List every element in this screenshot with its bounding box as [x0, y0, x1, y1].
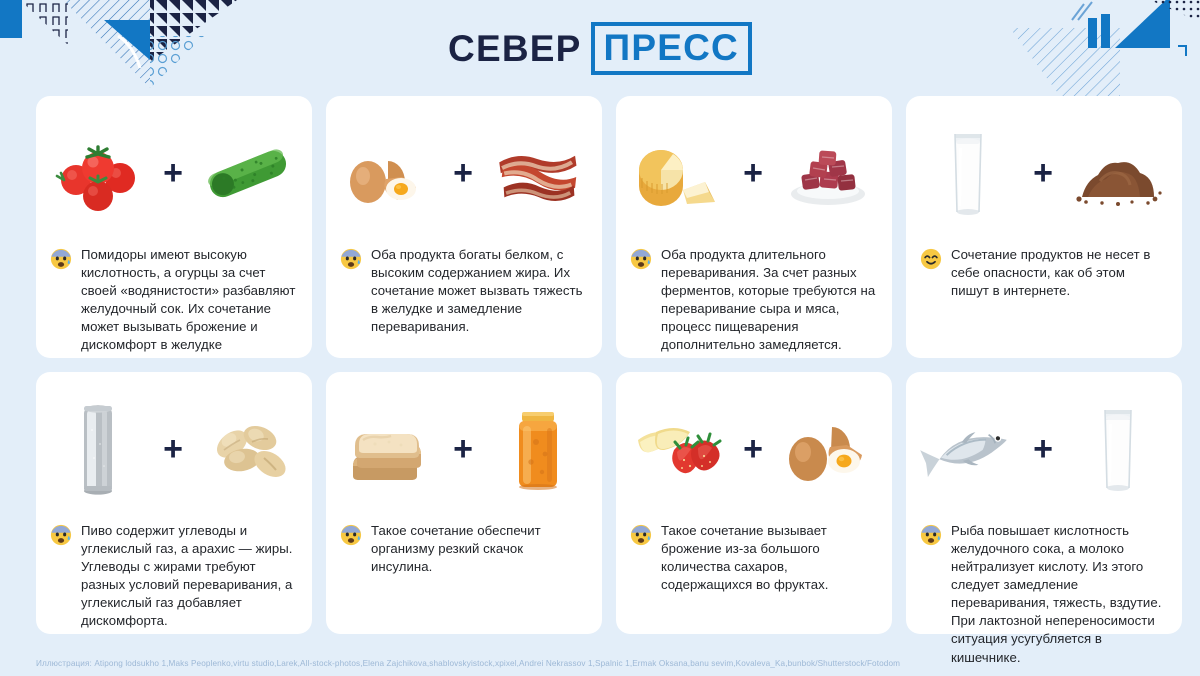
card-milk-cocoa: + [906, 96, 1182, 358]
food-pair-illustration: + [340, 392, 586, 508]
card-bread-jam: + [326, 372, 602, 634]
card-note: Оба продукта богаты белком, с высоким со… [340, 246, 586, 336]
anxious-face-with-sweat-icon [630, 248, 652, 270]
plus-sign: + [158, 432, 188, 466]
food-pair-illustration: + [50, 116, 296, 232]
plus-sign: + [158, 156, 188, 190]
card-fish-milk: + [906, 372, 1182, 634]
anxious-face-with-sweat-icon [630, 524, 652, 546]
milk-glass-icon [1070, 398, 1166, 502]
food-combination-grid: + [36, 96, 1164, 634]
anxious-face-with-sweat-icon [50, 524, 72, 546]
plus-sign: + [738, 156, 768, 190]
bread-slices-icon [340, 398, 436, 502]
card-cheese-meat: + [616, 96, 892, 358]
fruit-icon [630, 398, 726, 502]
card-note: Такое сочетание вызывает брожение из-за … [630, 522, 876, 594]
card-note-text: Сочетание продуктов не несет в себе опас… [951, 246, 1166, 300]
cheese-icon [630, 122, 726, 226]
card-note: Оба продукта длительного переваривания. … [630, 246, 876, 354]
card-note-text: Такое сочетание обеспечит организму резк… [371, 522, 586, 576]
logo-text-press: ПРЕСС [591, 22, 752, 75]
card-note: Пиво содержит углеводы и углекислый газ,… [50, 522, 296, 630]
card-tomatoes-cucumber: + [36, 96, 312, 358]
card-note: Такое сочетание обеспечит организму резк… [340, 522, 586, 576]
card-note-text: Рыба повышает кислотность желудочного со… [951, 522, 1166, 667]
card-fruit-eggs: + [616, 372, 892, 634]
site-logo[interactable]: СЕВЕР ПРЕСС [448, 22, 752, 75]
food-pair-illustration: + [630, 392, 876, 508]
card-note: Сочетание продуктов не несет в себе опас… [920, 246, 1166, 300]
cocoa-powder-icon [1070, 122, 1166, 226]
card-note: Помидоры имеют высокую кислотность, а ог… [50, 246, 296, 354]
card-note-text: Оба продукта длительного переваривания. … [661, 246, 876, 354]
jam-jar-icon [490, 398, 586, 502]
eggs-icon [340, 122, 436, 226]
plus-sign: + [738, 432, 768, 466]
food-pair-illustration: + [630, 116, 876, 232]
anxious-face-with-sweat-icon [340, 524, 362, 546]
plus-sign: + [448, 432, 478, 466]
food-pair-illustration: + [50, 392, 296, 508]
beer-can-icon [50, 398, 146, 502]
peanuts-icon [200, 398, 296, 502]
anxious-face-with-sweat-icon [340, 248, 362, 270]
food-pair-illustration: + [920, 392, 1166, 508]
anxious-face-with-sweat-icon [50, 248, 72, 270]
meat-plate-icon [780, 122, 876, 226]
card-eggs-bacon: + [326, 96, 602, 358]
anxious-face-with-sweat-icon [920, 524, 942, 546]
plus-sign: + [448, 156, 478, 190]
plus-sign: + [1028, 432, 1058, 466]
logo-text-sever: СЕВЕР [448, 30, 581, 67]
bacon-icon [490, 122, 586, 226]
card-note-text: Оба продукта богаты белком, с высоким со… [371, 246, 586, 336]
card-beer-peanuts: + [36, 372, 312, 634]
smiling-face-icon [920, 248, 942, 270]
page-header: СЕВЕР ПРЕСС [0, 0, 1200, 96]
tomatoes-icon [50, 122, 146, 226]
illustration-credit: Иллюстрация: Atipong lodsukho 1,Maks Peo… [36, 659, 1164, 668]
milk-glass-icon [920, 122, 1016, 226]
food-pair-illustration: + [920, 116, 1166, 232]
card-note-text: Такое сочетание вызывает брожение из-за … [661, 522, 876, 594]
food-pair-illustration: + [340, 116, 586, 232]
eggs-icon [780, 398, 876, 502]
fish-icon [920, 398, 1016, 502]
card-note: Рыба повышает кислотность желудочного со… [920, 522, 1166, 667]
cucumber-icon [200, 122, 296, 226]
plus-sign: + [1028, 156, 1058, 190]
card-note-text: Пиво содержит углеводы и углекислый газ,… [81, 522, 296, 630]
card-note-text: Помидоры имеют высокую кислотность, а ог… [81, 246, 296, 354]
